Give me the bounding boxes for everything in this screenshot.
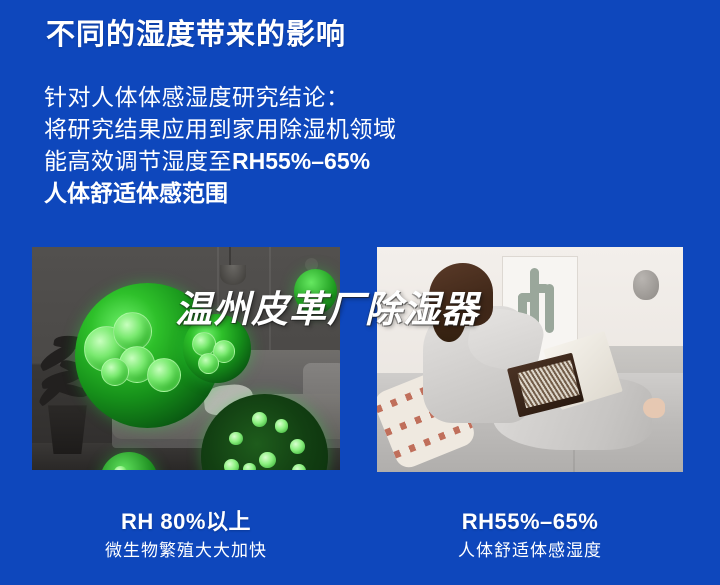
germ-dot-icon: [252, 412, 267, 427]
germ-dot-icon: [290, 439, 305, 454]
photo-high-humidity: [32, 247, 340, 470]
germ-circle-icon: [183, 314, 251, 383]
intro-line-3-highlight: RH55%–65%: [232, 148, 370, 174]
woman-hair-strand: [432, 292, 466, 342]
caption-title: RH55%–65%: [380, 508, 680, 536]
woman-foot: [643, 398, 664, 418]
page-title: 不同的湿度带来的影响: [46, 17, 346, 53]
germ-blob-icon: [147, 358, 181, 392]
germ-blob-icon: [113, 312, 153, 352]
intro-line-2: 将研究结果应用到家用除湿机领域: [44, 113, 397, 145]
dark-room-scene: [32, 247, 340, 470]
cactus-icon: [534, 284, 550, 293]
germ-dot-icon: [243, 463, 256, 470]
intro-paragraph: 针对人体体感湿度研究结论： 将研究结果应用到家用除湿机领域 能高效调节湿度至RH…: [44, 81, 397, 209]
intro-line-4: 人体舒适体感范围: [44, 177, 397, 209]
germ-dot-icon: [114, 466, 127, 470]
lamp-cord-icon: [229, 247, 231, 267]
caption-subtitle: 人体舒适体感湿度: [380, 538, 680, 563]
caption-subtitle: 微生物繁殖大大加快: [36, 538, 336, 563]
photo-comfort-humidity: [377, 247, 683, 472]
germ-dot-icon: [259, 452, 275, 468]
bright-room-scene: [377, 247, 683, 472]
wall-seam-icon: [269, 247, 271, 363]
germ-dot-icon: [275, 419, 289, 433]
germ-dot-icon: [224, 459, 239, 470]
caption-comfort-humidity: RH55%–65% 人体舒适体感湿度: [380, 508, 680, 563]
humidity-infographic-poster: 不同的湿度带来的影响 针对人体体感湿度研究结论： 将研究结果应用到家用除湿机领域…: [0, 0, 720, 585]
wall-lamp-icon: [633, 270, 659, 300]
germ-blob-icon: [101, 358, 129, 386]
pendant-lamp-icon: [220, 265, 246, 285]
germ-dot-icon: [292, 464, 306, 470]
germ-blob-icon: [198, 353, 219, 374]
germ-dot-icon: [229, 432, 243, 446]
intro-line-3-normal: 能高效调节湿度至: [44, 148, 232, 174]
cactus-icon: [518, 293, 537, 302]
intro-line-1: 针对人体体感湿度研究结论：: [44, 81, 397, 113]
caption-high-humidity: RH 80%以上 微生物繁殖大大加快: [36, 508, 336, 563]
intro-line-3: 能高效调节湿度至RH55%–65%: [44, 145, 397, 177]
germ-circle-icon: [294, 269, 337, 314]
caption-title: RH 80%以上: [36, 508, 336, 536]
